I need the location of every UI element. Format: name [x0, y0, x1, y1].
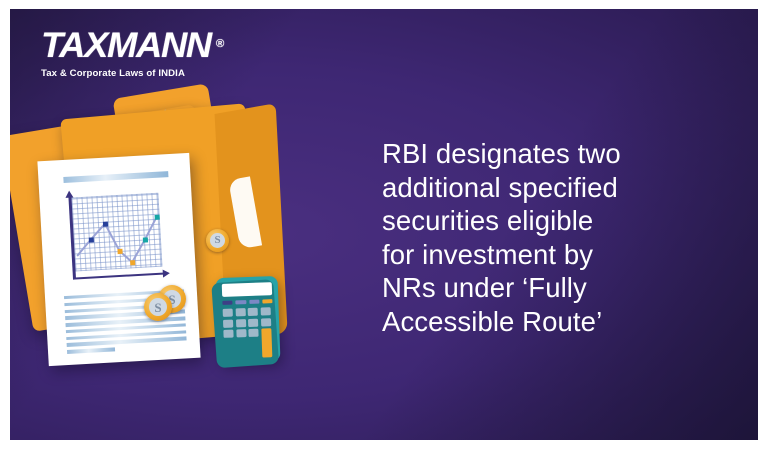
dollar-coin-icon: S	[144, 293, 172, 321]
calculator-function-key	[262, 299, 272, 303]
registered-trademark-icon: ®	[216, 25, 224, 63]
calculator-equals-key	[261, 328, 272, 357]
calculator-function-key	[236, 300, 246, 304]
taxmann-logo: TAXMANN ® Tax & Corporate Laws of INDIA	[41, 27, 241, 89]
calculator-display	[222, 282, 272, 297]
calculator-key	[248, 308, 258, 316]
calculator-icon	[216, 276, 281, 363]
logo-tagline: Tax & Corporate Laws of INDIA	[41, 68, 241, 79]
chart-marker	[143, 237, 148, 242]
coin-symbol: S	[149, 298, 167, 316]
chart-marker	[89, 237, 94, 242]
calculator-key	[260, 307, 270, 315]
image-frame: TAXMANN ® Tax & Corporate Laws of INDIA	[0, 0, 768, 450]
calculator-function-key	[222, 301, 232, 305]
chart-marker	[155, 215, 160, 220]
illustration: S S S	[10, 101, 350, 401]
calculator-key	[223, 330, 233, 338]
logo-wordmark: TAXMANN ®	[41, 27, 211, 65]
report-document-icon	[37, 153, 200, 366]
chart-marker	[117, 249, 122, 254]
calculator-key	[235, 308, 245, 316]
headline-line: RBI designates two	[382, 137, 712, 171]
calculator-keypad	[223, 307, 275, 359]
chart-series-path	[58, 191, 166, 285]
calculator-key	[260, 318, 270, 326]
headline-line: securities eligible	[382, 204, 712, 238]
calculator-key	[248, 329, 258, 337]
calculator-key	[236, 329, 246, 337]
calculator-key	[223, 319, 233, 327]
calculator-key	[235, 319, 245, 327]
logo-wordmark-text: TAXMANN	[41, 26, 211, 65]
coin-symbol: S	[210, 233, 225, 248]
document-title-bar	[63, 171, 168, 183]
calculator-key	[223, 309, 233, 317]
headline-line: additional specified	[382, 171, 712, 205]
page-title: RBI designates two additional specified …	[382, 137, 712, 338]
text-line	[67, 348, 115, 354]
headline-line: NRs under ‘Fully	[382, 271, 712, 305]
document-line-chart	[58, 191, 166, 285]
dollar-coin-icon: S	[206, 229, 229, 252]
headline-line: for investment by	[382, 238, 712, 272]
chart-marker	[130, 260, 135, 265]
banner: TAXMANN ® Tax & Corporate Laws of INDIA	[10, 9, 758, 440]
headline-line: Accessible Route’	[382, 305, 712, 339]
calculator-function-key	[249, 300, 259, 304]
calculator-key	[248, 318, 258, 326]
chart-marker	[103, 222, 108, 227]
